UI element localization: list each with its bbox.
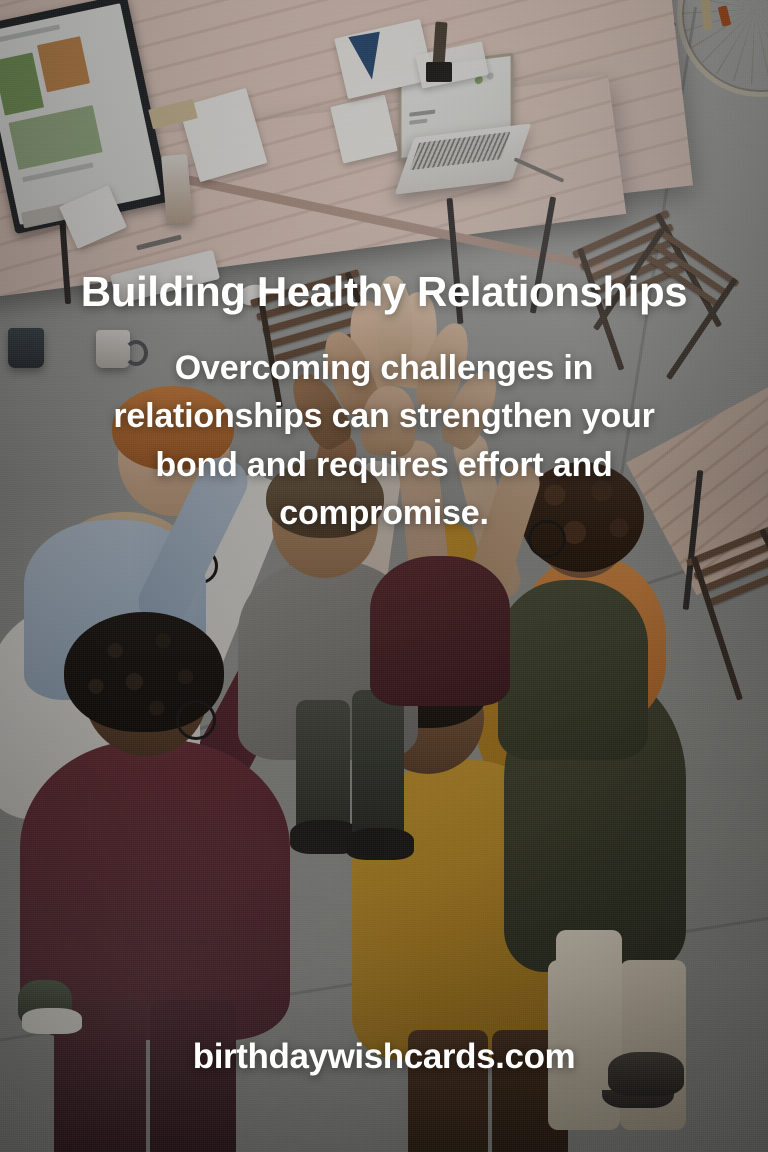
social-card: Building Healthy Relationships Overcomin… xyxy=(0,0,768,1152)
site-url: birthdaywishcards.com xyxy=(0,1037,768,1077)
text-layer: Building Healthy Relationships Overcomin… xyxy=(0,0,768,1152)
card-subtitle: Overcoming challenges in relationships c… xyxy=(82,344,686,537)
card-title: Building Healthy Relationships xyxy=(0,270,768,314)
